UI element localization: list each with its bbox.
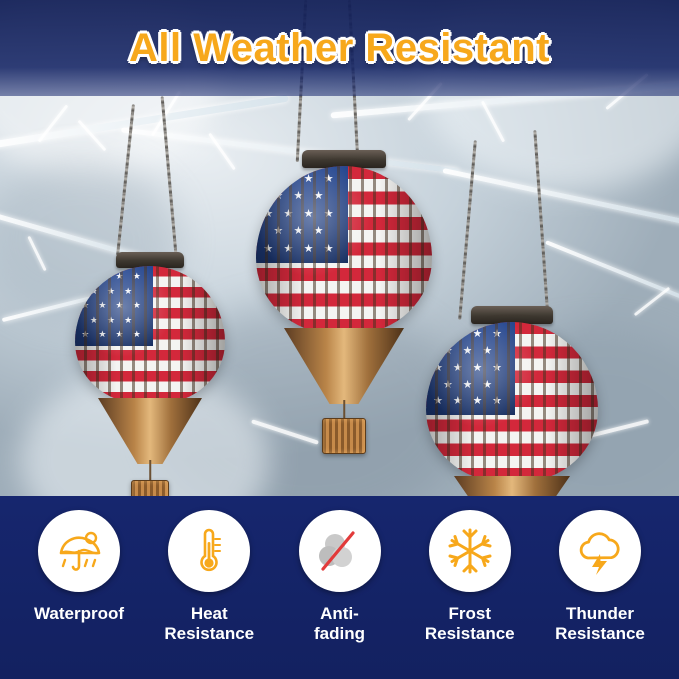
balloon-body: ★ ★ ★ ★ ★ ★ ★ ★ ★ ★ ★ ★ ★ ★ ★ ★ ★ xyxy=(256,166,432,334)
feature-bar: Waterproof Heat Resistance xyxy=(0,496,679,679)
feature-label: Heat Resistance xyxy=(164,604,254,643)
product-infographic: ★ ★ ★ ★ ★ ★ ★ ★ ★ ★ ★ ★ ★ ★ ★ ★ ★ xyxy=(0,0,679,679)
feature-label: Frost Resistance xyxy=(425,604,515,643)
feature-thunder-resistance[interactable]: Thunder Resistance xyxy=(539,510,661,643)
lantern-center: ★ ★ ★ ★ ★ ★ ★ ★ ★ ★ ★ ★ ★ ★ ★ ★ ★ xyxy=(254,150,434,450)
hanging-chain xyxy=(458,140,477,320)
snowflake-icon xyxy=(444,525,496,577)
thermometer-icon xyxy=(184,526,234,576)
balloon-shading xyxy=(256,166,432,334)
feature-anti-fading[interactable]: Anti- fading xyxy=(279,510,401,643)
lantern-right: ★ ★ ★ ★ ★ ★ ★ ★ ★ ★ ★ ★ ★ ★ ★ ★ ★ xyxy=(424,306,600,512)
umbrella-rain-icon xyxy=(54,526,104,576)
feature-icon-circle xyxy=(38,510,120,592)
feature-frost-resistance[interactable]: Frost Resistance xyxy=(409,510,531,643)
feature-row: Waterproof Heat Resistance xyxy=(0,510,679,643)
feature-icon-circle xyxy=(299,510,381,592)
feature-label: Waterproof xyxy=(34,604,124,624)
balloon-shading xyxy=(426,322,598,482)
feature-icon-circle xyxy=(429,510,511,592)
page-title: All Weather Resistant xyxy=(129,26,550,71)
balloon-body: ★ ★ ★ ★ ★ ★ ★ ★ ★ ★ ★ ★ ★ ★ ★ ★ ★ xyxy=(75,266,225,404)
feature-label: Anti- fading xyxy=(314,604,365,643)
balloon-cone xyxy=(284,328,404,404)
feature-label: Thunder Resistance xyxy=(555,604,645,643)
balloon-body: ★ ★ ★ ★ ★ ★ ★ ★ ★ ★ ★ ★ ★ ★ ★ ★ ★ xyxy=(426,322,598,482)
anti-fading-icon xyxy=(313,526,367,576)
solar-basket-light xyxy=(322,418,366,454)
feature-waterproof[interactable]: Waterproof xyxy=(18,510,140,643)
feature-icon-circle xyxy=(559,510,641,592)
frost-twig xyxy=(208,133,236,171)
balloon-shading xyxy=(75,266,225,404)
lantern-left: ★ ★ ★ ★ ★ ★ ★ ★ ★ ★ ★ ★ ★ ★ ★ ★ ★ xyxy=(70,252,230,502)
headline-banner: All Weather Resistant xyxy=(0,0,679,96)
product-photo: ★ ★ ★ ★ ★ ★ ★ ★ ★ ★ ★ ★ ★ ★ ★ ★ ★ xyxy=(0,0,679,512)
balloon-cone xyxy=(98,398,202,464)
feature-heat-resistance[interactable]: Heat Resistance xyxy=(148,510,270,643)
cloud-lightning-icon xyxy=(574,526,626,576)
frost-twig xyxy=(634,287,671,316)
feature-icon-circle xyxy=(168,510,250,592)
